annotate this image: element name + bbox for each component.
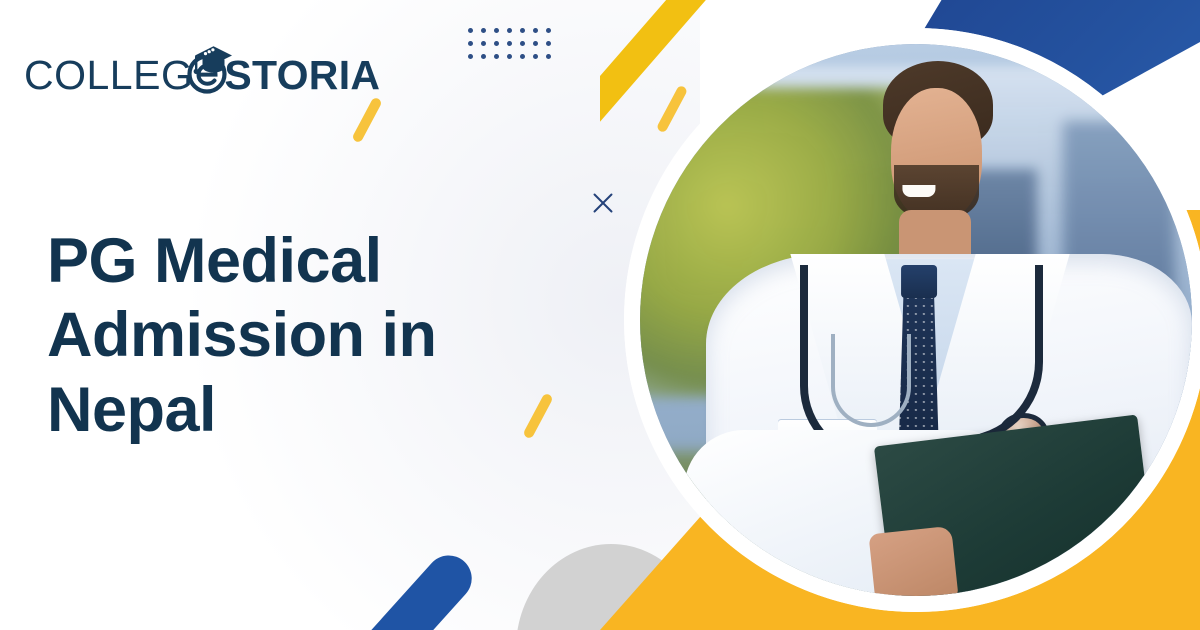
- graduation-cap-icon: [179, 38, 237, 96]
- brand-logo[interactable]: COLLEG STORIA: [24, 36, 380, 96]
- logo-text-primary: COLLEG: [24, 55, 193, 96]
- doctor-figure: [640, 44, 1192, 596]
- blue-bar-shape: [306, 546, 481, 630]
- dot-grid-decoration: [468, 28, 559, 67]
- doctor-smile: [902, 185, 935, 197]
- logo-text-secondary: STORIA: [224, 55, 380, 96]
- hero-banner: COLLEG STORIA PG Medical Admission in N: [0, 0, 1200, 630]
- yellow-dash-icon: [351, 96, 382, 143]
- doctor-photo: [640, 44, 1192, 596]
- page-title: PG Medical Admission in Nepal: [47, 224, 567, 447]
- stethoscope-tube: [831, 334, 910, 427]
- hero-artwork: [600, 0, 1200, 630]
- doctor-hand: [868, 526, 958, 596]
